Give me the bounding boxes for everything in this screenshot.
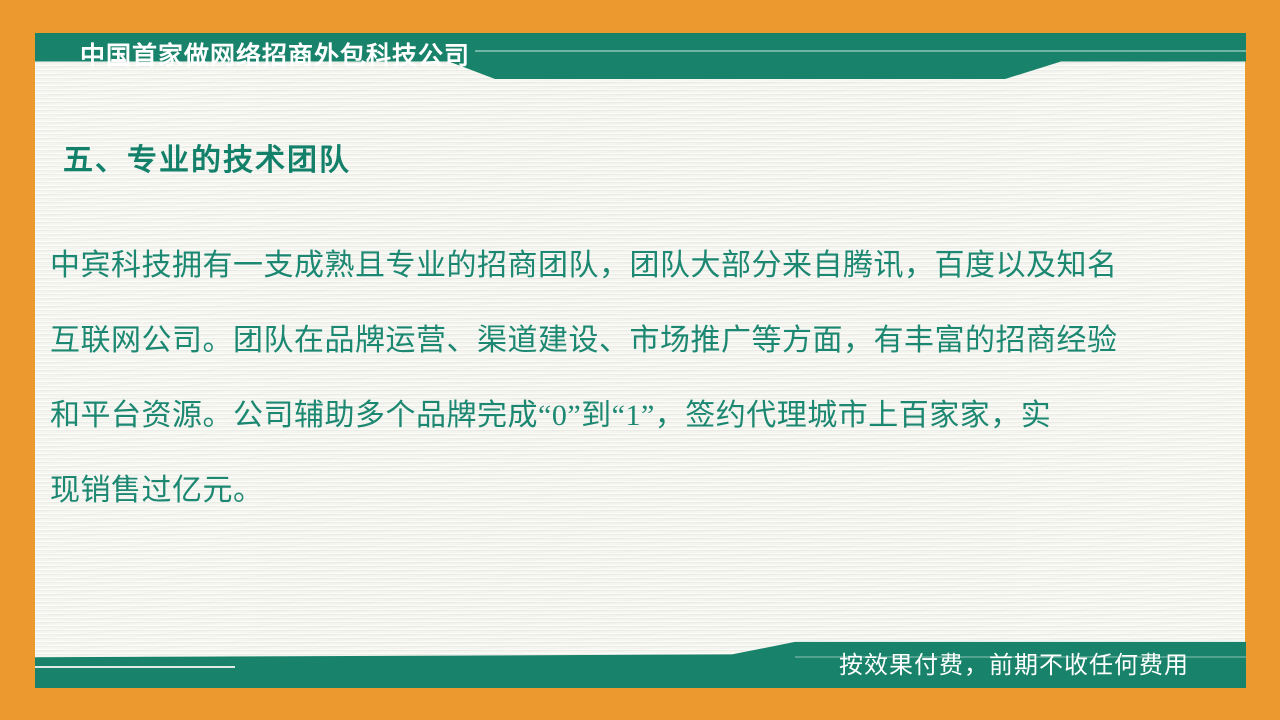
header-banner-hairline (475, 50, 1246, 52)
footer-tagline: 按效果付费，前期不收任何费用 (839, 644, 1189, 688)
body-paragraph: 中宾科技拥有一支成熟且专业的招商团队，团队大部分来自腾讯，百度以及知名 互联网公… (50, 228, 1185, 528)
header-banner: 中国首家做网络招商外包科技公司 (35, 33, 1246, 79)
slide-canvas: 中国首家做网络招商外包科技公司 五、专业的技术团队 中宾科技拥有一支成熟且专业的… (0, 0, 1280, 720)
body-line-3: 和平台资源。公司辅助多个品牌完成“0”到“1”，签约代理城市上百家家，实 (50, 378, 1185, 453)
body-line-4: 现销售过亿元。 (50, 453, 1185, 528)
section-title: 五、专业的技术团队 (63, 135, 351, 179)
header-title: 中国首家做网络招商外包科技公司 (80, 33, 470, 79)
footer-banner: 按效果付费，前期不收任何费用 (35, 640, 1246, 688)
body-line-2: 互联网公司。团队在品牌运营、渠道建设、市场推广等方面，有丰富的招商经验 (50, 303, 1185, 378)
body-line-1: 中宾科技拥有一支成熟且专业的招商团队，团队大部分来自腾讯，百度以及知名 (50, 228, 1185, 303)
